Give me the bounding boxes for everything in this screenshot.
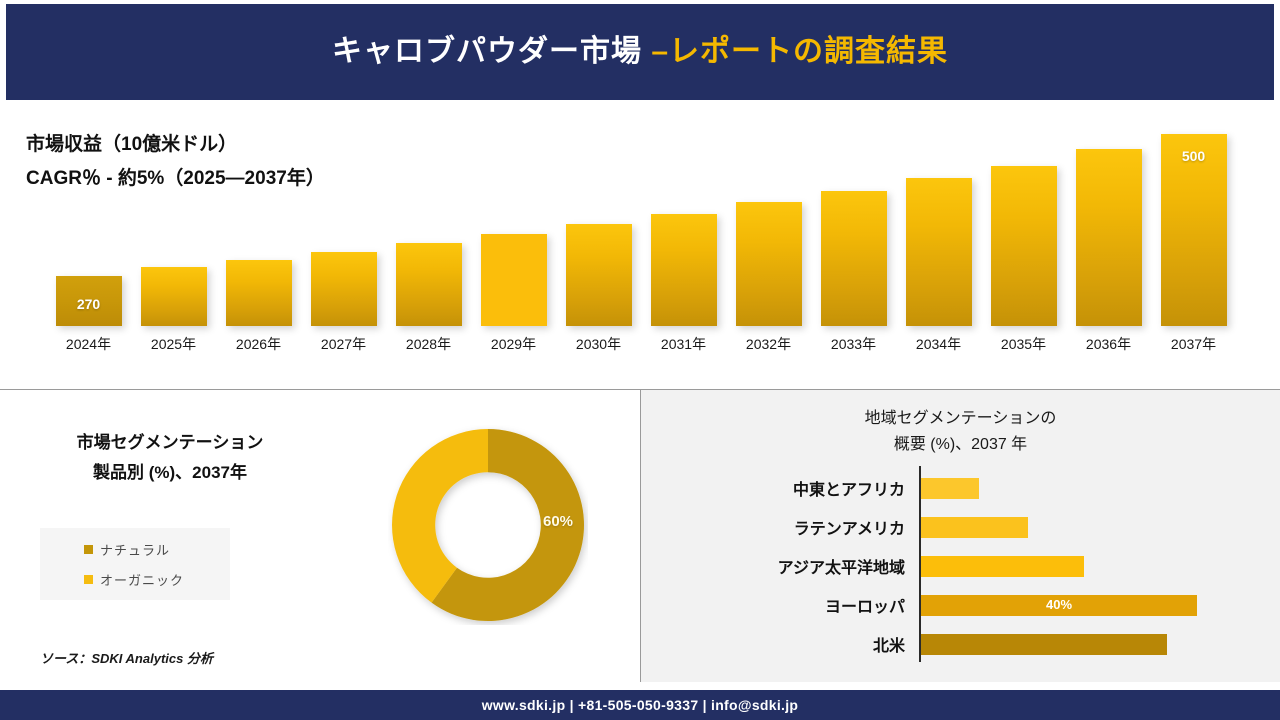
bar-2035年 xyxy=(991,166,1057,326)
region-bar-アジア太平洋地域 xyxy=(921,556,1084,577)
bar-x-label: 2036年 xyxy=(1064,334,1154,354)
bar-column xyxy=(396,243,462,326)
bar-column xyxy=(566,224,632,326)
regional-title-line2: 概要 (%)、2037 年 xyxy=(641,432,1280,458)
region-label-北米: 北米 xyxy=(641,632,913,656)
bar-x-label: 2031年 xyxy=(639,334,729,354)
region-bar-中東とアフリカ xyxy=(921,478,979,499)
bar-2029年 xyxy=(481,234,547,326)
region-label-ラテンアメリカ: ラテンアメリカ xyxy=(641,515,913,539)
bar-x-label: 2030年 xyxy=(554,334,644,354)
donut-chart: 60% xyxy=(388,425,588,625)
bar-x-label: 2027年 xyxy=(299,334,389,354)
bar-x-label: 2034年 xyxy=(894,334,984,354)
bar-column: 500 xyxy=(1161,134,1227,326)
bar-2031年 xyxy=(651,214,717,326)
bar-2025年 xyxy=(141,267,207,326)
bar-value-label: 270 xyxy=(56,296,122,312)
region-label-中東とアフリカ: 中東とアフリカ xyxy=(641,476,913,500)
bar-2033年 xyxy=(821,191,887,326)
bar-column xyxy=(736,202,802,326)
region-row: 中東とアフリカ xyxy=(641,470,1280,506)
bar-x-label: 2025年 xyxy=(129,334,219,354)
bar-2024年: 270 xyxy=(56,276,122,326)
page-title-accent: –レポートの調査結果 xyxy=(651,35,948,68)
bar-2030年 xyxy=(566,224,632,326)
market-revenue-chart: 市場収益（10億米ドル） CAGR％ - 約5%（2025―2037年） 270… xyxy=(0,104,1280,387)
bar-column xyxy=(141,267,207,326)
bar-2027年 xyxy=(311,252,377,326)
legend-swatch-organic xyxy=(84,575,93,584)
legend-item-natural: ナチュラル xyxy=(84,534,230,564)
bar-2036年 xyxy=(1076,149,1142,326)
bar-column xyxy=(651,214,717,326)
bar-column xyxy=(1076,149,1142,326)
market-revenue-plot-area: 2702024年2025年2026年2027年2028年2029年2030年20… xyxy=(46,122,1236,362)
bar-x-label: 2032年 xyxy=(724,334,814,354)
footer-banner: www.sdki.jp | +81-505-050-9337 | info@sd… xyxy=(0,690,1280,720)
product-segmentation-legend: ナチュラル オーガニック xyxy=(40,528,230,600)
region-row: ラテンアメリカ xyxy=(641,509,1280,545)
region-row: 北米 xyxy=(641,626,1280,662)
region-row: アジア太平洋地域 xyxy=(641,548,1280,584)
bar-x-label: 2028年 xyxy=(384,334,474,354)
product-segmentation-panel: 市場セグメンテーション 製品別 (%)、2037年 ナチュラル オーガニック xyxy=(0,390,640,682)
bar-2032年 xyxy=(736,202,802,326)
bar-column: 270 xyxy=(56,276,122,326)
header-banner: キャロブパウダー市場 –レポートの調査結果 xyxy=(6,4,1274,100)
legend-label-natural: ナチュラル xyxy=(100,540,170,559)
footer-contact-text: www.sdki.jp | +81-505-050-9337 | info@sd… xyxy=(482,697,799,713)
region-bar-value-label: 40% xyxy=(921,597,1197,612)
product-segmentation-title-line2: 製品別 (%)、2037年 xyxy=(20,458,320,488)
region-bar-ラテンアメリカ xyxy=(921,517,1028,538)
bar-2026年 xyxy=(226,260,292,326)
bar-column xyxy=(906,178,972,326)
bar-x-label: 2029年 xyxy=(469,334,559,354)
regional-title-line1: 地域セグメンテーションの xyxy=(641,406,1280,432)
bar-2034年 xyxy=(906,178,972,326)
product-segmentation-title-line1: 市場セグメンテーション xyxy=(20,428,320,458)
product-segmentation-title: 市場セグメンテーション 製品別 (%)、2037年 xyxy=(20,428,320,488)
page-title-main: キャロブパウダー市場 xyxy=(332,35,651,68)
donut-value-label: 60% xyxy=(528,513,588,530)
bar-column xyxy=(821,191,887,326)
bar-x-label: 2033年 xyxy=(809,334,899,354)
regional-segmentation-panel: 地域セグメンテーションの 概要 (%)、2037 年 中東とアフリカラテンアメリ… xyxy=(641,390,1280,682)
legend-item-organic: オーガニック xyxy=(84,564,230,594)
bar-x-label: 2037年 xyxy=(1149,334,1239,354)
bar-2037年: 500 xyxy=(1161,134,1227,326)
region-label-アジア太平洋地域: アジア太平洋地域 xyxy=(641,554,913,578)
legend-label-organic: オーガニック xyxy=(100,570,184,589)
source-note: ソース：SDKI Analytics 分析 xyxy=(40,648,213,667)
bar-column xyxy=(481,234,547,326)
infographic-page: キャロブパウダー市場 –レポートの調査結果 市場収益（10億米ドル） CAGR％… xyxy=(0,0,1280,720)
bar-x-label: 2035年 xyxy=(979,334,1069,354)
region-bar-北米 xyxy=(921,634,1167,655)
bar-value-label: 500 xyxy=(1161,148,1227,164)
region-row: ヨーロッパ40% xyxy=(641,587,1280,623)
legend-swatch-natural xyxy=(84,545,93,554)
regional-plot-area: 中東とアフリカラテンアメリカアジア太平洋地域ヨーロッパ40%北米 xyxy=(641,466,1280,666)
bar-x-label: 2026年 xyxy=(214,334,304,354)
region-label-ヨーロッパ: ヨーロッパ xyxy=(641,593,913,617)
bar-column xyxy=(311,252,377,326)
page-title: キャロブパウダー市場 –レポートの調査結果 xyxy=(332,37,948,67)
bar-2028年 xyxy=(396,243,462,326)
bar-column xyxy=(991,166,1057,326)
bar-column xyxy=(226,260,292,326)
bar-x-label: 2024年 xyxy=(44,334,134,354)
regional-segmentation-title: 地域セグメンテーションの 概要 (%)、2037 年 xyxy=(641,406,1280,458)
region-bar-ヨーロッパ: 40% xyxy=(921,595,1197,616)
